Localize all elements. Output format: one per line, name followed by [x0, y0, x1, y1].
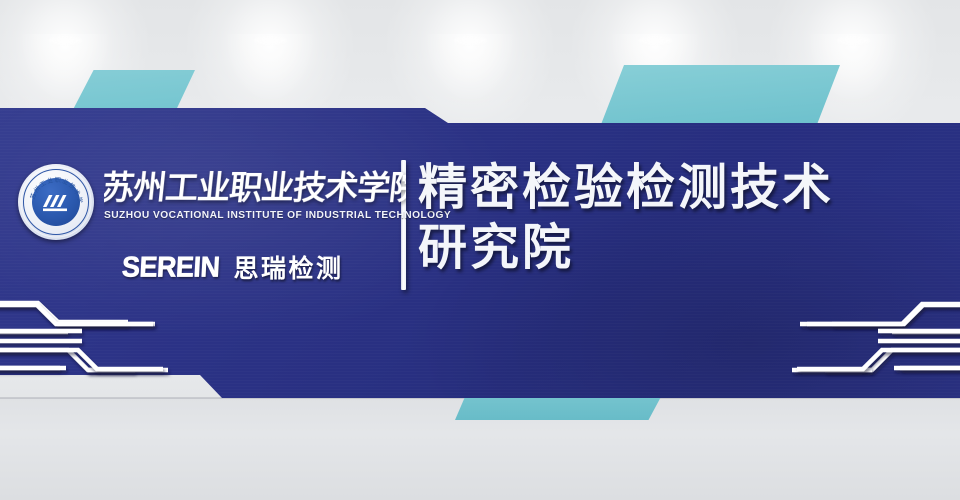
ceiling-lamp-5 — [836, 36, 870, 45]
ceiling-lamp-4 — [638, 36, 672, 45]
signage-scene: 苏州工业职业技术学院 苏州工业职业技术学院 SUZHOU VOCATIONAL … — [0, 0, 960, 500]
university-logo-block: 苏州工业职业技术学院 苏州工业职业技术学院 SUZHOU VOCATIONAL … — [14, 158, 394, 293]
svg-text:苏州工业职业技术学院: 苏州工业职业技术学院 — [18, 164, 84, 205]
partner-logo-row: SEREIN 思瑞检测 — [122, 250, 344, 284]
serein-name-cn: 思瑞检测 — [234, 249, 344, 285]
ceiling-lamp-3 — [453, 36, 487, 45]
svg-text:苏州工业职业技术学院: 苏州工业职业技术学院 — [104, 168, 406, 207]
university-name-cn: 苏州工业职业技术学院 — [104, 164, 406, 210]
university-crest-icon: 苏州工业职业技术学院 — [18, 164, 94, 240]
ceiling-lamp-2 — [253, 36, 287, 45]
university-name-en: SUZHOU VOCATIONAL INSTITUTE OF INDUSTRIA… — [104, 210, 406, 221]
teal-trapezoid-top-right — [600, 65, 840, 127]
ceiling-lamp-1 — [48, 36, 82, 45]
page-title: 精密检验检测技术 研究院 — [418, 158, 948, 278]
serein-wordmark: SEREIN — [121, 251, 220, 284]
